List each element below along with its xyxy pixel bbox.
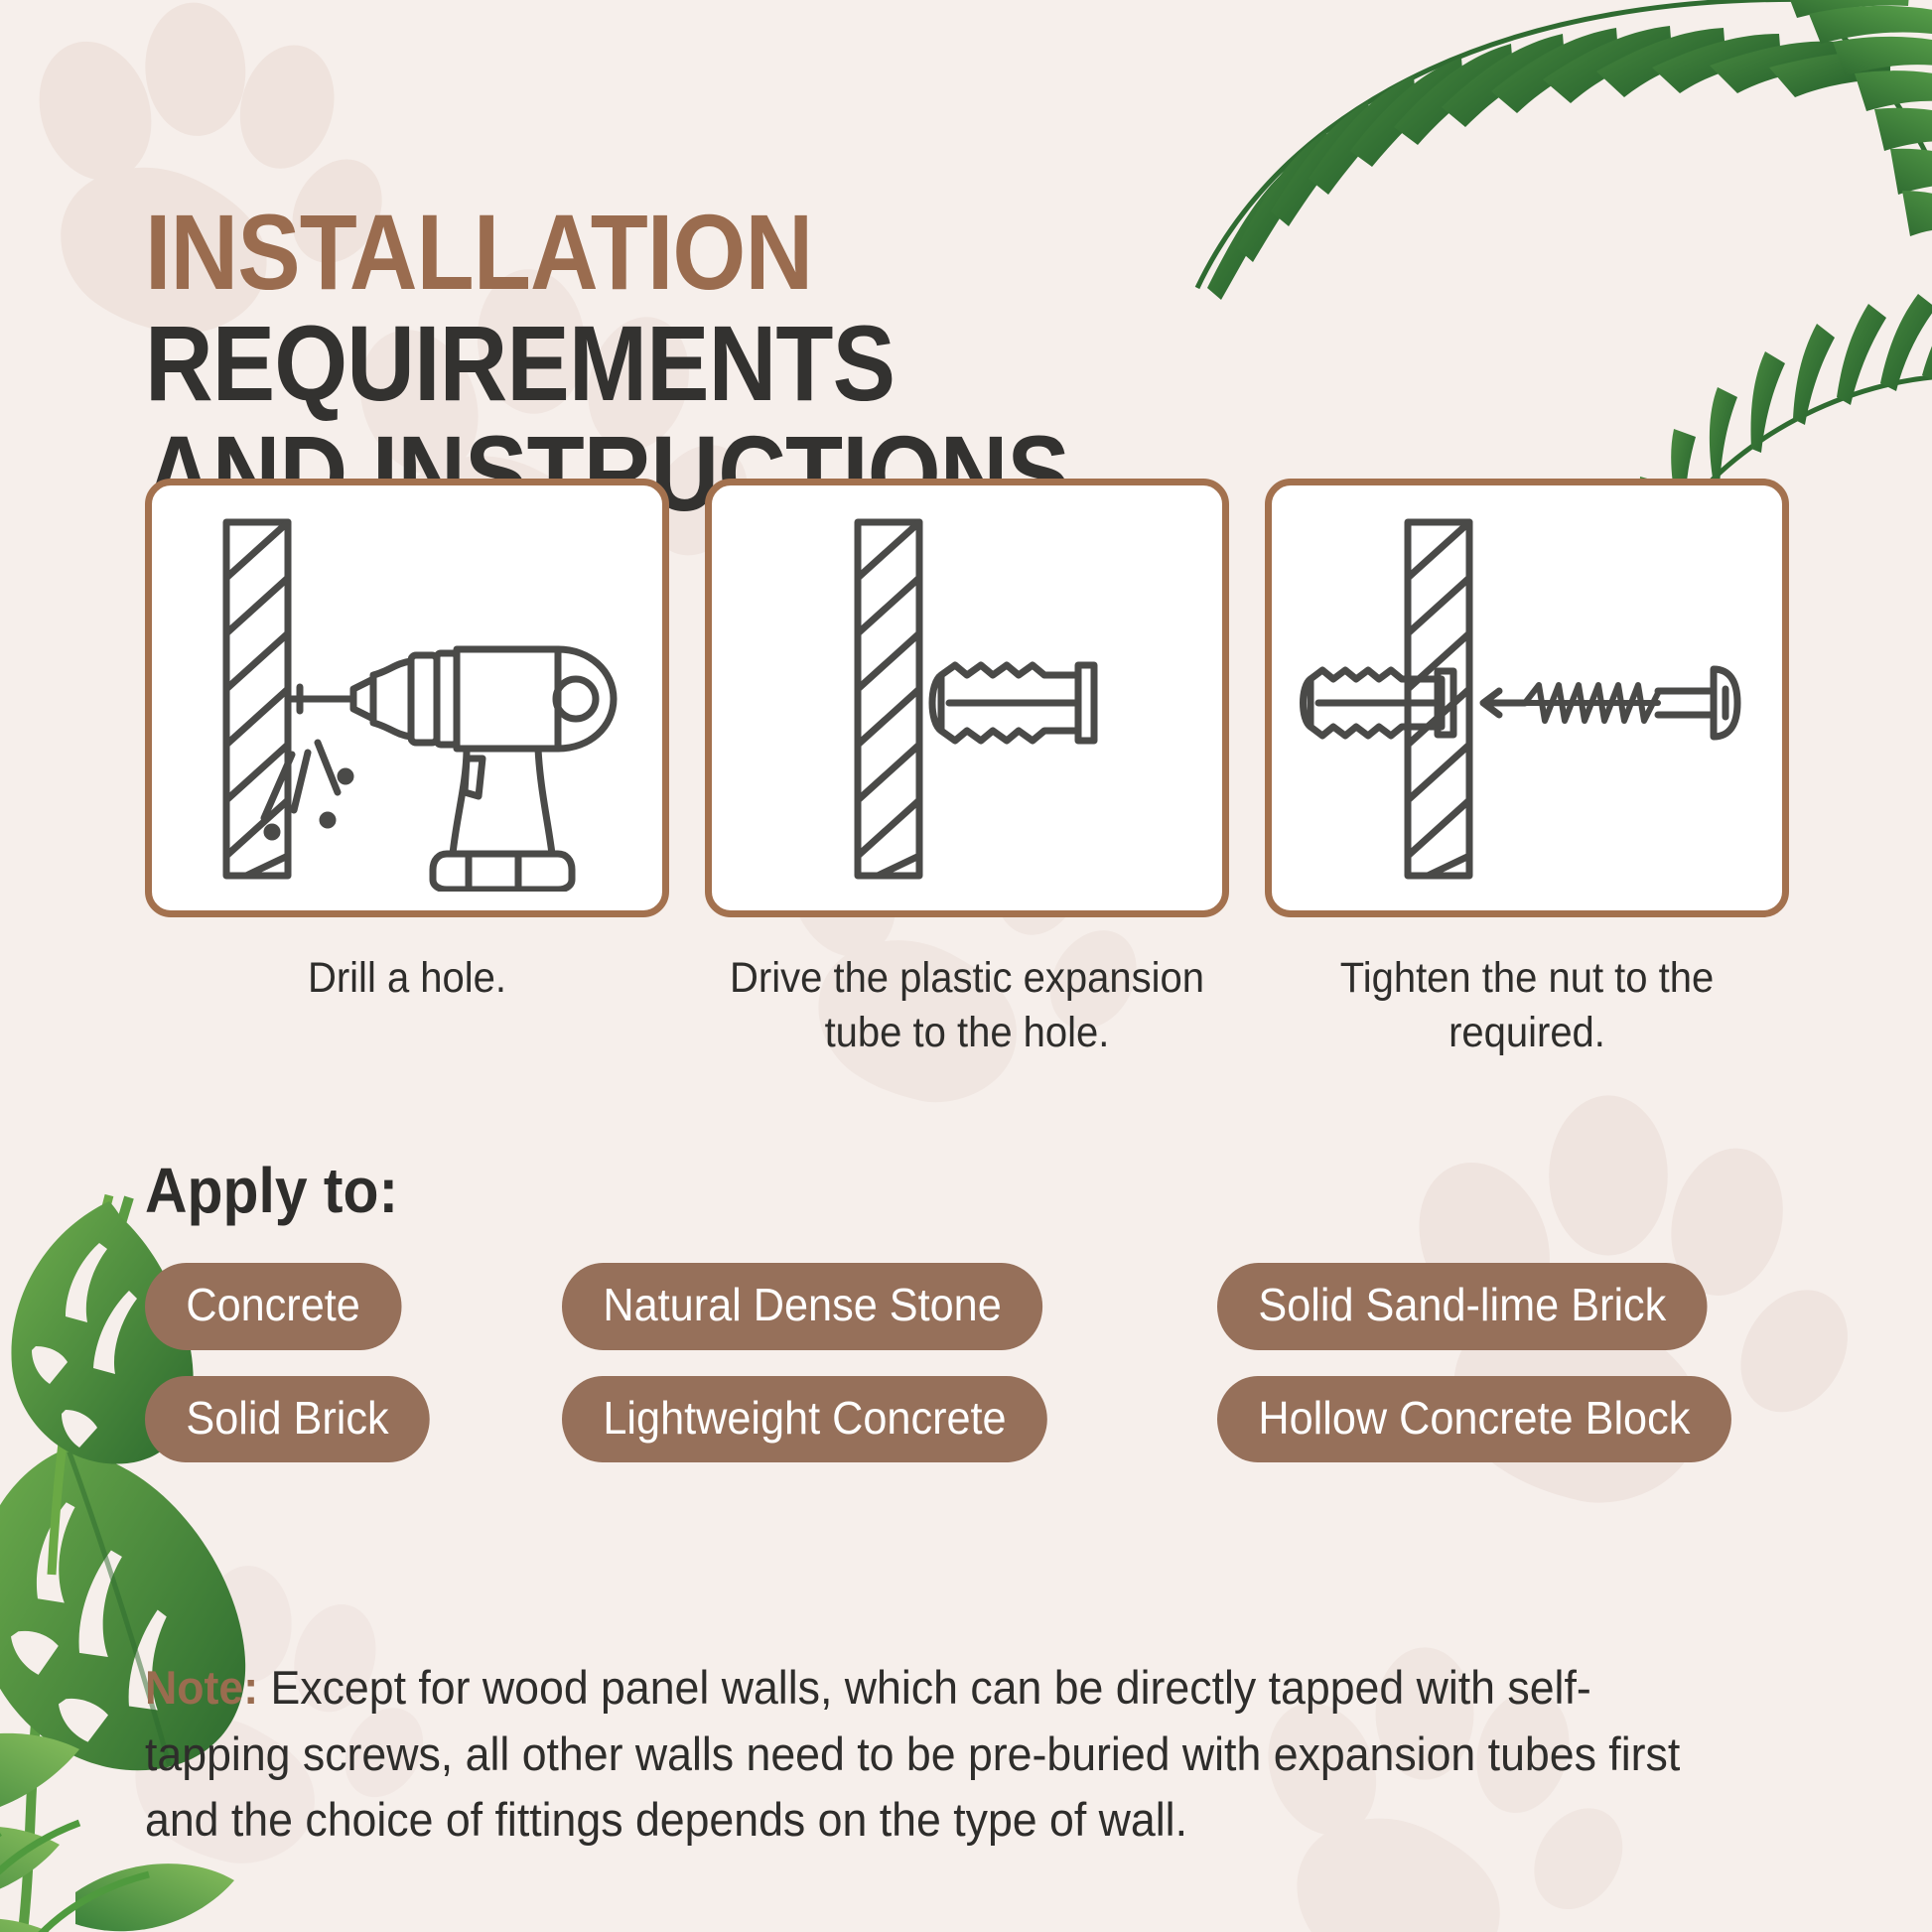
screw-into-anchor-icon xyxy=(1289,504,1765,892)
step-2-illustration-box xyxy=(705,479,1229,917)
step-1-illustration-box xyxy=(145,479,669,917)
step-3: Tighten the nut to the required. xyxy=(1265,479,1789,1060)
apply-to-heading: Apply to: xyxy=(145,1154,398,1227)
material-pill-hollow-concrete-block[interactable]: Hollow Concrete Block xyxy=(1217,1376,1731,1463)
note-label: Note: xyxy=(145,1661,258,1714)
step-2: Drive the plastic expansion tube to the … xyxy=(705,479,1229,1060)
step-1-caption: Drill a hole. xyxy=(163,951,650,1006)
step-3-caption: Tighten the nut to the required. xyxy=(1283,951,1770,1060)
title-rest: REQUIREMENTS xyxy=(145,303,895,423)
step-2-caption: Drive the plastic expansion tube to the … xyxy=(723,951,1210,1060)
material-pill-lightweight-concrete[interactable]: Lightweight Concrete xyxy=(562,1376,1047,1463)
drill-into-wall-icon xyxy=(169,504,645,892)
installation-steps: Drill a hole. xyxy=(145,479,1793,1060)
note-paragraph: Note: Except for wood panel walls, which… xyxy=(145,1655,1729,1854)
step-3-illustration-box xyxy=(1265,479,1789,917)
material-pill-concrete[interactable]: Concrete xyxy=(145,1263,401,1350)
apply-to-material-list: Concrete Natural Dense Stone Solid Sand-… xyxy=(145,1263,1813,1462)
note-body: Except for wood panel walls, which can b… xyxy=(145,1661,1680,1846)
material-pill-solid-sand-lime-brick[interactable]: Solid Sand-lime Brick xyxy=(1217,1263,1708,1350)
step-1: Drill a hole. xyxy=(145,479,669,1060)
material-pill-natural-dense-stone[interactable]: Natural Dense Stone xyxy=(562,1263,1042,1350)
title-accent: INSTALLATION xyxy=(145,192,812,312)
expansion-tube-into-wall-icon xyxy=(729,504,1205,892)
material-pill-solid-brick[interactable]: Solid Brick xyxy=(145,1376,430,1463)
